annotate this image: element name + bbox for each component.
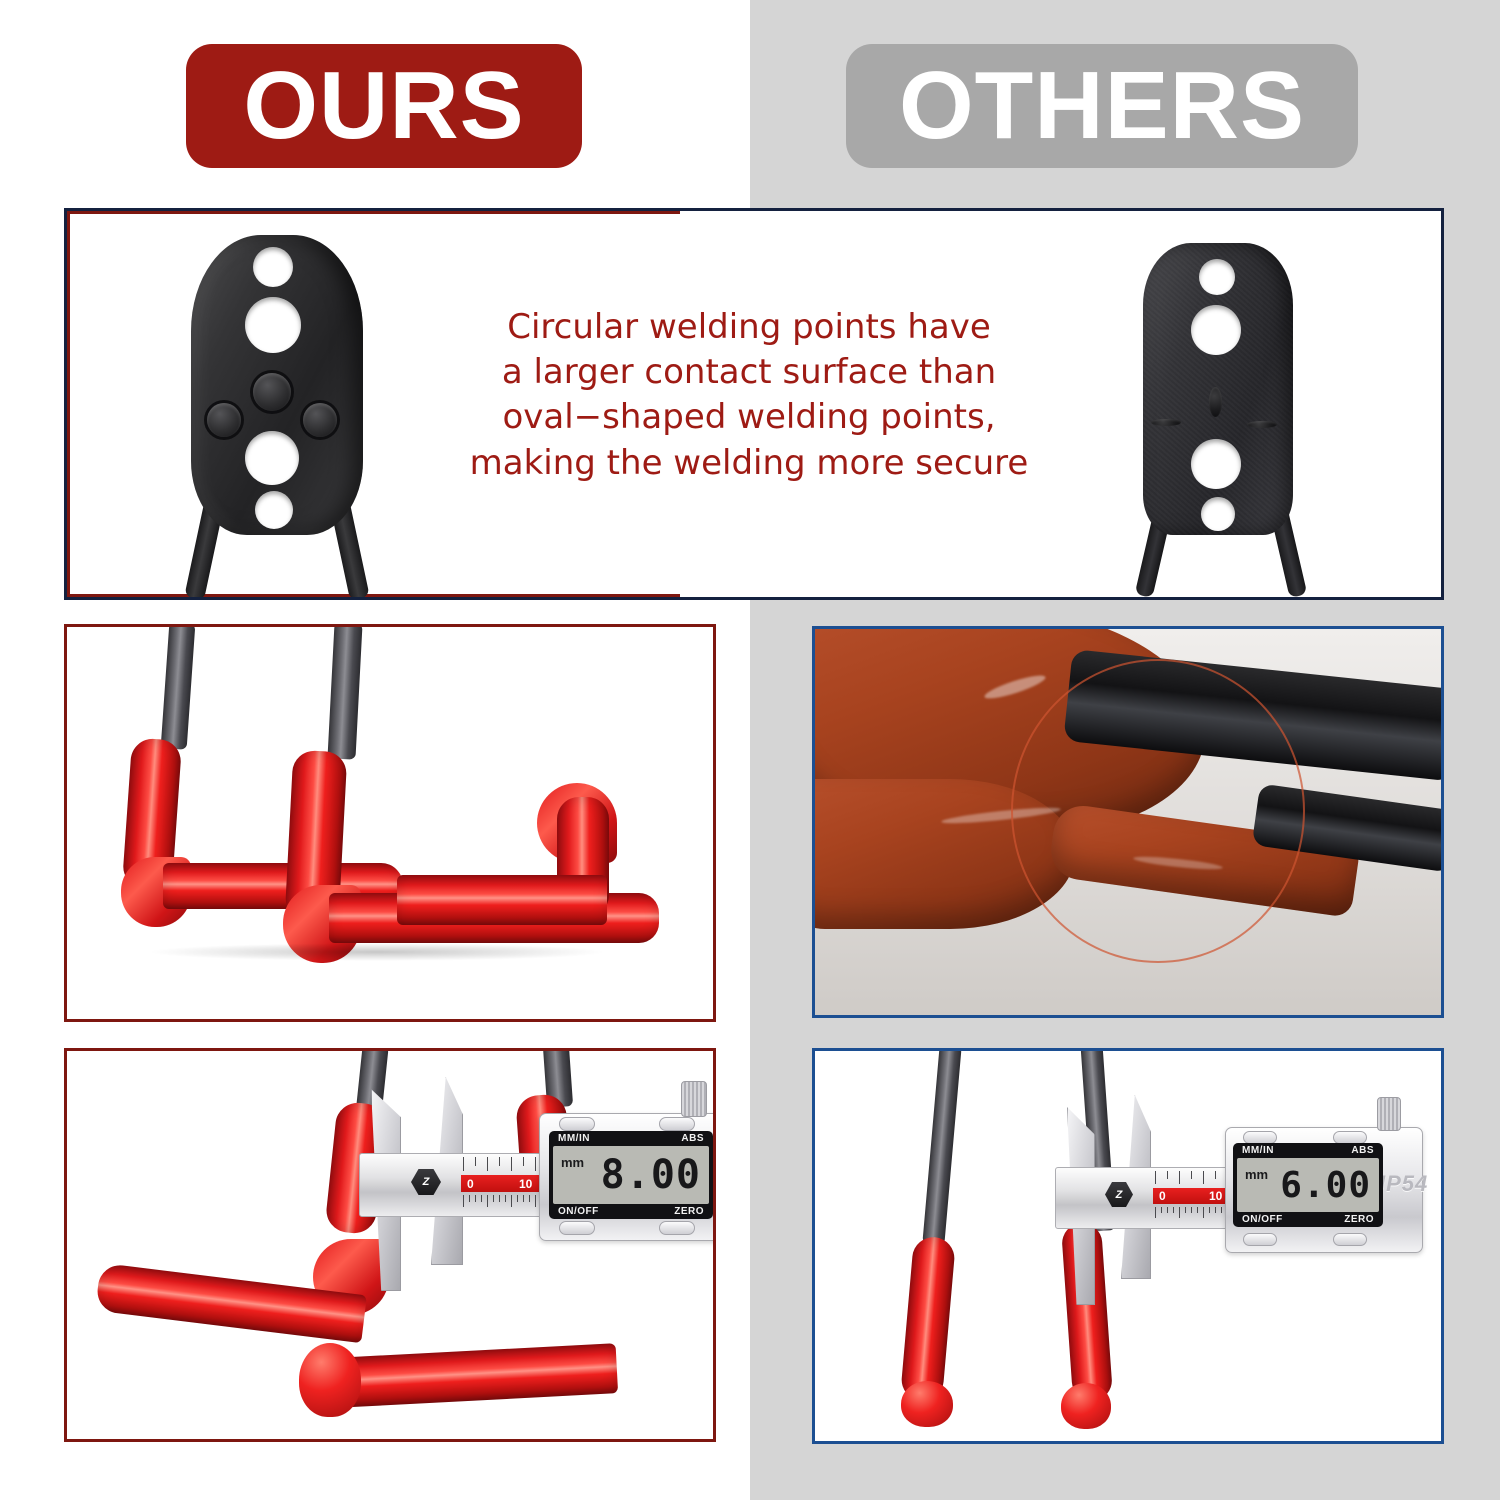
caption-line-1: Circular welding points have	[451, 305, 1047, 350]
ours-mounting-plate	[191, 235, 363, 535]
others-lcd-label-mmin: MM/IN	[1242, 1145, 1274, 1156]
panel-welding-comparison: Circular welding points have a larger co…	[64, 208, 1444, 600]
ours-lcd-label-mmin: MM/IN	[558, 1133, 590, 1144]
ours-caliper: 0 10 Z MM/IN	[343, 1069, 716, 1369]
ours-caliper-button-abs[interactable]	[659, 1117, 695, 1131]
others-measured-cap-left	[901, 1381, 953, 1427]
others-lcd-label-abs: ABS	[1351, 1145, 1374, 1156]
ours-lcd-screen: mm 8.00	[553, 1146, 709, 1204]
ours-header-badge: OURS	[186, 44, 582, 168]
ours-lcd-top-labels: MM/IN ABS	[549, 1133, 713, 1144]
ours-weld-point-center	[253, 373, 291, 411]
ours-bracket-illustration	[143, 221, 423, 597]
ours-caliper-brand-label: Z	[423, 1176, 430, 1188]
ours-scale-zero: 0	[467, 1177, 474, 1191]
ours-hole-top	[253, 247, 293, 287]
others-weld-oval-left	[1151, 419, 1181, 426]
others-hole-bottom	[1201, 497, 1235, 531]
others-caliper-thumbwheel	[1377, 1097, 1401, 1131]
caption-line-3: oval−shaped welding points,	[451, 395, 1047, 440]
ours-caliper-button-mmin[interactable]	[559, 1117, 595, 1131]
ours-lcd-label-zero: ZERO	[674, 1206, 704, 1217]
others-caliper-ip-rating: IP54	[1379, 1171, 1428, 1197]
welding-caption: Circular welding points have a larger co…	[451, 305, 1047, 486]
ours-caliper-display: MM/IN ABS mm 8.00 ON/OFF ZERO	[549, 1131, 713, 1219]
others-mounting-plate	[1143, 243, 1293, 535]
others-scale-ten: 10	[1209, 1189, 1222, 1203]
others-hole-upper	[1191, 305, 1241, 355]
ours-hook-front-tip-run	[397, 875, 607, 925]
others-bracket-illustration	[1103, 225, 1353, 597]
ours-lcd-value: 8.00	[601, 1148, 701, 1202]
panel-ours-thickness: 0 10 Z MM/IN	[64, 1048, 716, 1442]
others-hole-lower	[1191, 439, 1241, 489]
others-caliper-button-zero[interactable]	[1333, 1233, 1367, 1246]
others-caliper: 0 10 Z IP54	[1043, 1075, 1435, 1375]
panel-others-thickness: 0 10 Z IP54	[812, 1048, 1444, 1444]
others-lcd-top-labels: MM/IN ABS	[1233, 1145, 1383, 1156]
others-scale-zero: 0	[1159, 1189, 1166, 1203]
others-lcd-bottom-labels: ON/OFF ZERO	[1233, 1214, 1383, 1225]
others-caliper-brand-label: Z	[1116, 1189, 1123, 1201]
others-peel-photo	[815, 629, 1441, 1015]
ours-lcd-label-abs: ABS	[681, 1133, 704, 1144]
others-caliper-display: MM/IN ABS mm 6.00 ON/OFF ZERO	[1233, 1143, 1383, 1227]
peel-strand-ring	[1011, 659, 1305, 963]
others-weld-oval-center	[1209, 387, 1222, 417]
others-hole-top	[1199, 259, 1235, 295]
ours-lcd-unit: mm	[561, 1155, 584, 1170]
others-header-badge: OTHERS	[846, 44, 1358, 168]
others-caliper-button-onoff[interactable]	[1243, 1233, 1277, 1246]
caption-line-2: a larger contact surface than	[451, 350, 1047, 395]
others-weld-oval-right	[1247, 421, 1277, 428]
ours-hole-bottom	[255, 491, 293, 529]
ours-hole-upper	[245, 297, 301, 353]
others-measured-cap-right	[1061, 1383, 1111, 1429]
ours-weld-point-right	[303, 403, 337, 437]
panel-others-coating-peel	[812, 626, 1444, 1018]
panel-ours-coating	[64, 624, 716, 1022]
ours-scale-ten: 10	[519, 1177, 532, 1191]
ours-caliper-button-zero[interactable]	[659, 1221, 695, 1235]
others-lcd-unit: mm	[1245, 1167, 1268, 1182]
caption-line-4: making the welding more secure	[451, 441, 1047, 486]
ours-hook-shadow	[147, 943, 607, 961]
ours-caliper-thumbwheel	[681, 1081, 707, 1117]
others-header-label: OTHERS	[899, 58, 1305, 154]
ours-caliper-button-onoff[interactable]	[559, 1221, 595, 1235]
others-lcd-label-onoff: ON/OFF	[1242, 1214, 1283, 1225]
ours-header-label: OURS	[243, 58, 524, 154]
others-lcd-value: 6.00	[1280, 1160, 1371, 1210]
ours-lcd-bottom-labels: ON/OFF ZERO	[549, 1206, 713, 1217]
ours-lcd-label-onoff: ON/OFF	[558, 1206, 599, 1217]
others-lcd-label-zero: ZERO	[1344, 1214, 1374, 1225]
ours-hole-lower	[245, 431, 299, 485]
ours-weld-point-left	[207, 403, 241, 437]
comparison-infographic: OURS OTHERS	[0, 0, 1500, 1500]
others-lcd-screen: mm 6.00	[1237, 1158, 1379, 1212]
